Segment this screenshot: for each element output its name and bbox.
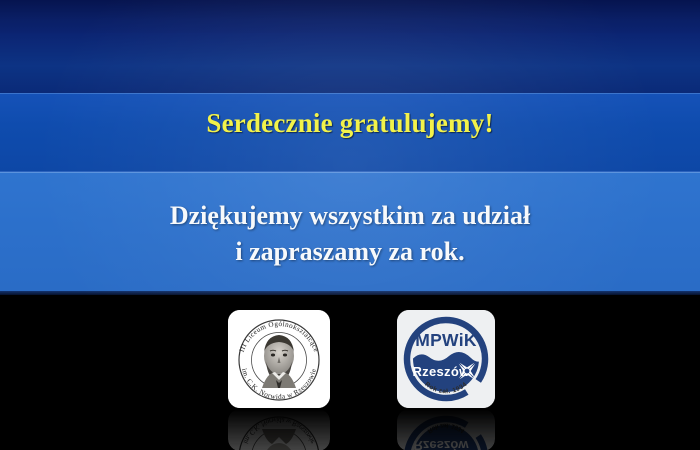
mpwik-logo: MPWiK Rzeszów Rok zał. 1934 [397, 310, 495, 408]
slide-body-text: Dziękujemy wszystkim za udział i zaprasz… [0, 198, 700, 270]
slide-body-line-2: i zapraszamy za rok. [0, 234, 700, 270]
slide-title: Serdecznie gratulujemy! [0, 108, 700, 139]
school-logo-reflection: III Liceum Ogólnokształcące im. C.K. Nor… [228, 409, 330, 450]
presentation-slide: Serdecznie gratulujemy! Dziękujemy wszys… [0, 0, 700, 450]
mpwik-logo-reflection-subtitle: Rzeszów [414, 438, 470, 450]
school-logo-reflection-graphic: III Liceum Ogólnokształcące im. C.K. Nor… [228, 409, 330, 450]
norwid-portrait-icon [262, 335, 296, 388]
mpwik-logo-reflection-graphic: MPWiK Rzeszów Rok zał. 1934 [397, 409, 495, 450]
mpwik-logo-title: MPWiK [415, 330, 477, 350]
background-band-top [0, 0, 700, 33]
mpwik-logo-graphic: MPWiK Rzeszów Rok zał. 1934 [397, 310, 495, 408]
background-band-black [0, 295, 700, 450]
school-logo-graphic: III Liceum Ogólnokształcące im. C.K. Nor… [228, 310, 330, 408]
background-band-upper [0, 33, 700, 93]
mpwik-logo-reflection: MPWiK Rzeszów Rok zał. 1934 [397, 409, 495, 450]
slide-body-line-1: Dziękujemy wszystkim za udział [0, 198, 700, 234]
school-logo: III Liceum Ogólnokształcące im. C.K. Nor… [228, 310, 330, 408]
